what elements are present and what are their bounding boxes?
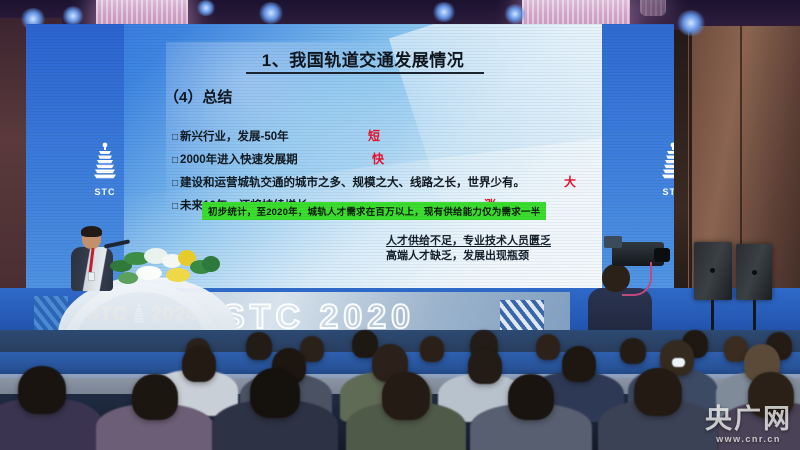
watermark-logo: 央广网 xyxy=(705,406,792,433)
ceiling-spotlight xyxy=(62,6,84,26)
bullet-tag: 短 xyxy=(368,127,380,144)
highlight-callout: 初步统计，至2020年，城轨人才需求在百万以上，现有供给能力仅为需求一半 xyxy=(202,202,546,220)
pagoda-icon xyxy=(92,142,118,186)
audience-head xyxy=(132,374,178,420)
audience-head xyxy=(250,368,300,418)
bullet-item: □ 新兴行业，发展-50年 短 xyxy=(172,128,602,144)
stc-logo-right: STC xyxy=(650,142,674,197)
ceiling-spotlight xyxy=(432,2,456,22)
stc-logo-label: STC xyxy=(650,187,674,197)
bullet-item: □ 2000年进入快速发展期 快 xyxy=(172,151,602,167)
watermark: 央广网 www.cnr.cn xyxy=(705,406,792,444)
audience-head xyxy=(182,346,216,382)
slide-title: 1、我国轨道交通发展情况 xyxy=(124,46,602,71)
bullet-text: 建设和运营城轨交通的城市之多、规模之大、线路之长，世界少有。 xyxy=(180,174,525,190)
pa-speaker-port xyxy=(752,270,757,275)
audience-head xyxy=(468,348,502,384)
speaker-badge xyxy=(88,272,95,281)
stc-logo-label: STC xyxy=(82,187,128,197)
note-line: 人才供给不足，专业技术人员匮乏 xyxy=(386,234,551,249)
audience-head xyxy=(382,372,430,420)
bullet-item: □ 建设和运营城轨交通的城市之多、规模之大、线路之长，世界少有。 大 xyxy=(172,174,602,190)
slide-subtitle: （4）总结 xyxy=(164,86,232,107)
bullet-text: 新兴行业，发展-50年 xyxy=(180,128,289,144)
speaker-hair xyxy=(81,226,102,237)
audience-head xyxy=(562,346,596,382)
conference-photo: STC STC 1、我国轨道交通发展情况 （4）总结 xyxy=(0,0,800,450)
bullet-marker: □ xyxy=(172,155,178,166)
bullet-marker: □ xyxy=(172,178,178,189)
audience-head xyxy=(508,374,554,420)
face-mask xyxy=(672,358,685,367)
bullet-tag: 快 xyxy=(372,150,384,167)
flower-arrangement xyxy=(106,246,224,290)
audience-head xyxy=(18,366,66,414)
camera-viewfinder xyxy=(604,236,622,248)
audience-head xyxy=(536,334,560,360)
stc-logo-left: STC xyxy=(82,142,128,197)
bullet-marker: □ xyxy=(172,201,178,212)
ceiling-spotlight xyxy=(676,10,706,36)
bullet-marker: □ xyxy=(172,132,178,143)
audience-head xyxy=(420,336,444,362)
audience-head xyxy=(634,368,682,416)
camera-lens xyxy=(654,248,670,262)
pa-speaker-port xyxy=(710,268,715,273)
audience-head xyxy=(246,332,272,360)
slide-notes: 人才供给不足，专业技术人员匮乏 高端人才缺乏，发展出现瓶颈 xyxy=(386,234,551,264)
title-underline xyxy=(246,72,484,74)
audience-head xyxy=(620,338,646,364)
ceiling-spotlight xyxy=(504,4,526,24)
pagoda-icon xyxy=(660,142,674,186)
chandelier-small xyxy=(640,0,666,16)
bullet-text: 2000年进入快速发展期 xyxy=(180,151,298,167)
bullet-tag: 大 xyxy=(564,173,576,190)
ceiling-spotlight xyxy=(258,2,284,24)
watermark-url: www.cnr.cn xyxy=(705,434,792,444)
ceiling-spotlight xyxy=(196,0,216,16)
note-line: 高端人才缺乏，发展出现瓶颈 xyxy=(386,249,551,264)
